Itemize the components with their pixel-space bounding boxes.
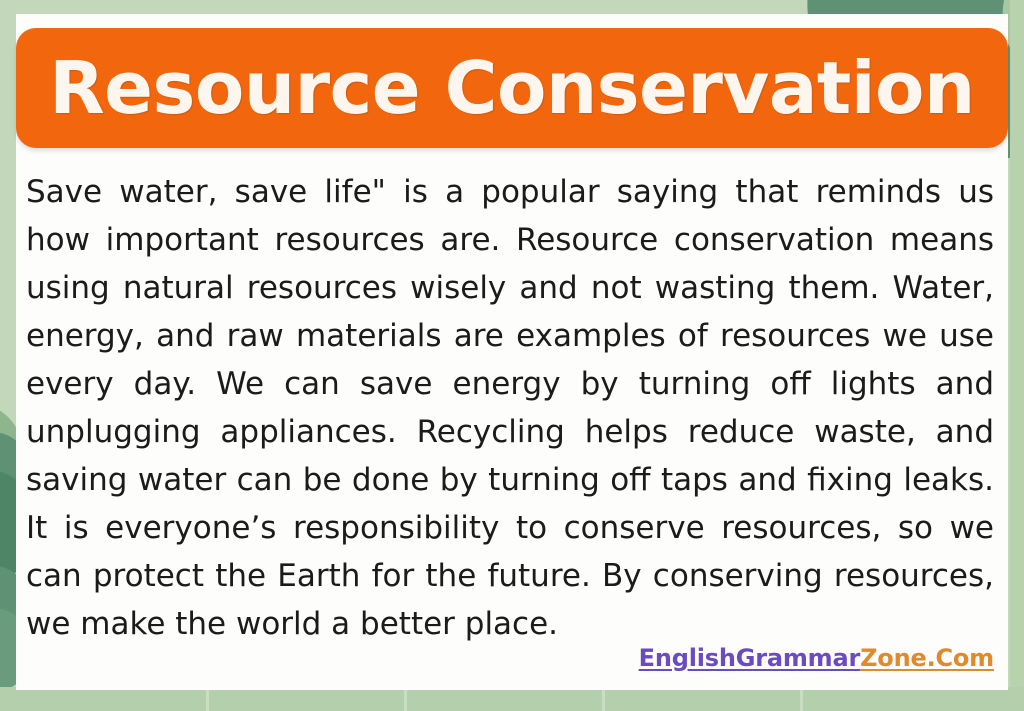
band-seam — [404, 687, 407, 711]
right-green-strip — [1010, 0, 1024, 711]
band-seam — [800, 687, 803, 711]
page-title: Resource Conservation — [49, 52, 975, 124]
brand-secondary-text: Zone.Com — [860, 644, 994, 672]
title-banner: Resource Conservation — [16, 28, 1008, 148]
site-brand-link[interactable]: EnglishGrammarZone.Com — [639, 644, 994, 672]
body-container: Save water, save life" is a popular sayi… — [26, 168, 994, 648]
bottom-green-band — [0, 687, 1024, 711]
band-seam — [602, 687, 605, 711]
band-seam — [206, 687, 209, 711]
body-paragraph: Save water, save life" is a popular sayi… — [26, 168, 994, 648]
poster-root: Resource Conservation Save water, save l… — [0, 0, 1024, 711]
brand-primary-text: EnglishGrammar — [639, 644, 860, 672]
